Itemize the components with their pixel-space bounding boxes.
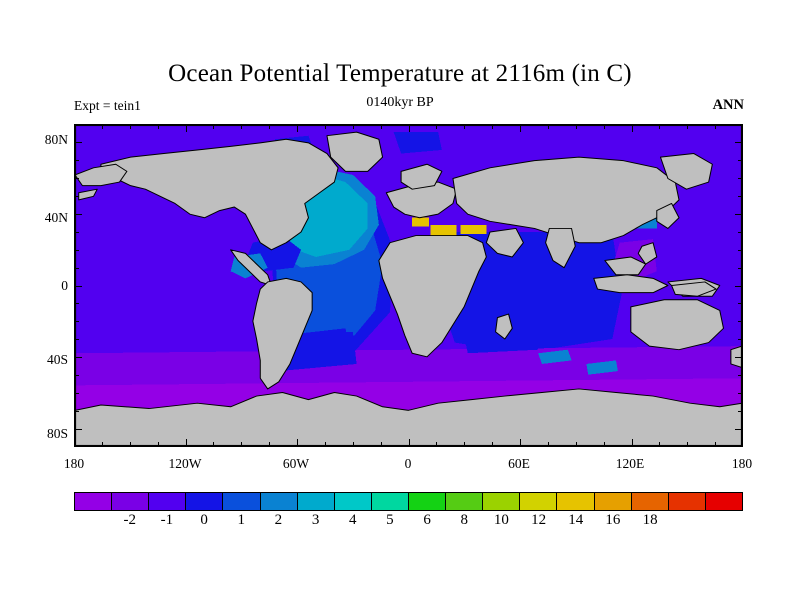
x-tick-top-1 [102, 124, 103, 129]
y-tick-left-16 [74, 411, 79, 412]
colorbar-tick--2: -2 [124, 512, 137, 529]
y-tick-right-6 [738, 232, 743, 233]
colorbar-tick-12: 12 [531, 512, 546, 529]
x-tick-top-21 [659, 124, 660, 129]
x-tick-bottom-22 [687, 442, 688, 447]
y-tick-right-1 [735, 142, 743, 143]
y-tick-right-17 [735, 429, 743, 430]
x-tick-bottom-23 [715, 442, 716, 447]
colorbar-tick--1: -1 [161, 512, 174, 529]
y-tick-left-6 [74, 232, 79, 233]
x-tick-top-11 [381, 124, 382, 129]
x-axis-label-0: 0 [373, 456, 443, 472]
colorbar-tick-3: 3 [312, 512, 320, 529]
figure-root: Ocean Potential Temperature at 2116m (in… [0, 0, 800, 600]
x-tick-top-12 [409, 124, 410, 132]
y-tick-right-3 [738, 178, 743, 179]
x-tick-top-4 [186, 124, 187, 132]
colorbar-tick-0: 0 [200, 512, 208, 529]
y-tick-right-4 [738, 196, 743, 197]
colorbar-cell-1 [112, 493, 149, 510]
x-tick-top-8 [297, 124, 298, 132]
y-tick-right-7 [738, 250, 743, 251]
map-plot-area [74, 124, 743, 447]
colorbar-cell-16 [669, 493, 706, 510]
x-tick-bottom-15 [492, 442, 493, 447]
y-tick-right-16 [738, 411, 743, 412]
colorbar-tick-16: 16 [605, 512, 620, 529]
x-axis-label-60w: 60W [261, 456, 331, 472]
x-tick-bottom-18 [576, 442, 577, 447]
y-tick-left-3 [74, 178, 79, 179]
x-tick-top-13 [436, 124, 437, 129]
y-tick-left-17 [74, 429, 82, 430]
x-tick-bottom-21 [659, 442, 660, 447]
x-tick-bottom-7 [269, 442, 270, 447]
colorbar-cell-7 [335, 493, 372, 510]
y-tick-left-8 [74, 268, 79, 269]
y-tick-left-11 [74, 321, 79, 322]
x-tick-bottom-10 [353, 442, 354, 447]
colorbar-cell-8 [372, 493, 409, 510]
subtitle-label: 0140kyr BP [0, 95, 800, 111]
x-tick-bottom-9 [325, 442, 326, 447]
x-tick-bottom-13 [436, 442, 437, 447]
y-tick-right-10 [738, 303, 743, 304]
y-tick-left-14 [74, 375, 79, 376]
colorbar-cell-2 [149, 493, 186, 510]
x-tick-top-6 [241, 124, 242, 129]
colorbar-cell-11 [483, 493, 520, 510]
colorbar [74, 492, 743, 511]
colorbar-cell-6 [298, 493, 335, 510]
x-tick-top-18 [576, 124, 577, 129]
x-tick-bottom-2 [130, 442, 131, 447]
x-tick-top-16 [520, 124, 521, 132]
colorbar-tick-5: 5 [386, 512, 394, 529]
x-tick-bottom-17 [548, 442, 549, 447]
x-axis-label-180e: 180 [707, 456, 777, 472]
y-tick-right-14 [738, 375, 743, 376]
y-tick-left-10 [74, 303, 79, 304]
colorbar-cell-4 [223, 493, 260, 510]
x-tick-bottom-8 [297, 439, 298, 447]
y-axis-label-80s: 80S [22, 427, 68, 441]
y-axis-label-80n: 80N [22, 133, 68, 147]
y-tick-right-11 [738, 321, 743, 322]
colorbar-tick-4: 4 [349, 512, 357, 529]
colorbar-cell-14 [595, 493, 632, 510]
colorbar-tick-2: 2 [275, 512, 283, 529]
y-tick-right-12 [738, 339, 743, 340]
x-tick-bottom-1 [102, 442, 103, 447]
y-axis-label-0: 0 [22, 279, 68, 293]
colorbar-cell-10 [446, 493, 483, 510]
x-tick-top-22 [687, 124, 688, 129]
colorbar-cell-17 [706, 493, 742, 510]
colorbar-cell-9 [409, 493, 446, 510]
x-tick-top-23 [715, 124, 716, 129]
world-map-svg [75, 125, 742, 446]
y-tick-left-7 [74, 250, 79, 251]
y-tick-left-2 [74, 160, 79, 161]
x-tick-bottom-4 [186, 439, 187, 447]
y-tick-left-13 [74, 357, 82, 358]
x-axis-label-180w: 180 [39, 456, 109, 472]
x-tick-top-10 [353, 124, 354, 129]
y-tick-left-5 [74, 214, 82, 215]
x-axis-label-120w: 120W [150, 456, 220, 472]
x-tick-top-15 [492, 124, 493, 129]
y-tick-right-8 [738, 268, 743, 269]
colorbar-cell-0 [75, 493, 112, 510]
x-tick-bottom-16 [520, 439, 521, 447]
x-axis-label-60e: 60E [484, 456, 554, 472]
x-tick-top-20 [632, 124, 633, 132]
x-tick-bottom-6 [241, 442, 242, 447]
y-axis-label-40n: 40N [22, 211, 68, 225]
x-tick-top-9 [325, 124, 326, 129]
y-tick-right-13 [735, 357, 743, 358]
x-tick-top-2 [130, 124, 131, 129]
y-tick-right-15 [738, 393, 743, 394]
y-tick-right-9 [735, 286, 743, 287]
x-tick-top-19 [604, 124, 605, 129]
y-tick-left-1 [74, 142, 82, 143]
x-tick-bottom-3 [158, 442, 159, 447]
x-tick-top-3 [158, 124, 159, 129]
x-tick-bottom-11 [381, 442, 382, 447]
colorbar-cell-15 [632, 493, 669, 510]
x-tick-bottom-20 [632, 439, 633, 447]
season-label: ANN [713, 97, 744, 114]
y-tick-left-15 [74, 393, 79, 394]
colorbar-tick-1: 1 [238, 512, 246, 529]
colorbar-cell-3 [186, 493, 223, 510]
x-tick-bottom-12 [409, 439, 410, 447]
y-tick-right-2 [738, 160, 743, 161]
colorbar-cell-13 [557, 493, 594, 510]
colorbar-tick-8: 8 [461, 512, 469, 529]
x-tick-top-7 [269, 124, 270, 129]
x-tick-bottom-14 [464, 442, 465, 447]
y-tick-left-4 [74, 196, 79, 197]
x-tick-top-5 [213, 124, 214, 129]
y-tick-left-9 [74, 286, 82, 287]
x-tick-top-17 [548, 124, 549, 129]
x-tick-bottom-19 [604, 442, 605, 447]
colorbar-tick-6: 6 [423, 512, 431, 529]
colorbar-tick-labels: -2-1012345681012141618 [74, 512, 743, 534]
colorbar-tick-10: 10 [494, 512, 509, 529]
colorbar-tick-14: 14 [568, 512, 583, 529]
x-tick-top-14 [464, 124, 465, 129]
x-tick-bottom-5 [213, 442, 214, 447]
x-axis-label-120e: 120E [595, 456, 665, 472]
y-tick-left-12 [74, 339, 79, 340]
colorbar-cell-5 [261, 493, 298, 510]
y-axis-label-40s: 40S [22, 353, 68, 367]
colorbar-cell-12 [520, 493, 557, 510]
colorbar-tick-18: 18 [643, 512, 658, 529]
page-title: Ocean Potential Temperature at 2116m (in… [0, 60, 800, 88]
y-tick-right-5 [735, 214, 743, 215]
